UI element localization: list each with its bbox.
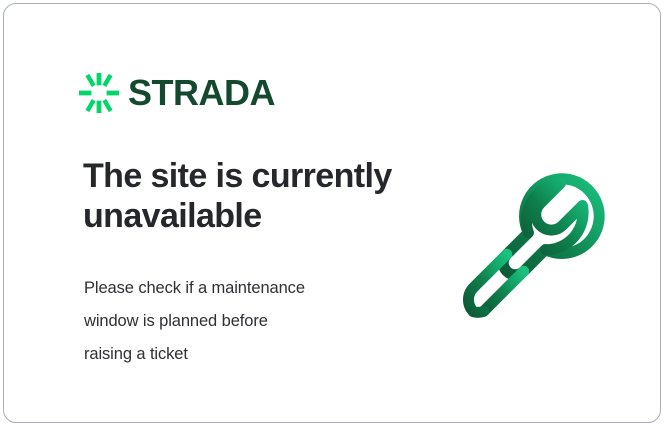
description-line: Please check if a maintenance: [84, 272, 394, 305]
wrench-icon: [456, 156, 622, 322]
description-line: raising a ticket: [84, 338, 394, 371]
brand-lockup: STRADA: [79, 73, 275, 113]
status-card: STRADA The site is currently unavailable…: [3, 3, 661, 423]
strada-asterisk-icon: [79, 73, 119, 113]
brand-wordmark: STRADA: [128, 75, 275, 111]
page-description: Please check if a maintenance window is …: [84, 272, 394, 371]
error-page: STRADA The site is currently unavailable…: [0, 0, 666, 436]
description-line: window is planned before: [84, 305, 394, 338]
page-title: The site is currently unavailable: [83, 156, 423, 237]
